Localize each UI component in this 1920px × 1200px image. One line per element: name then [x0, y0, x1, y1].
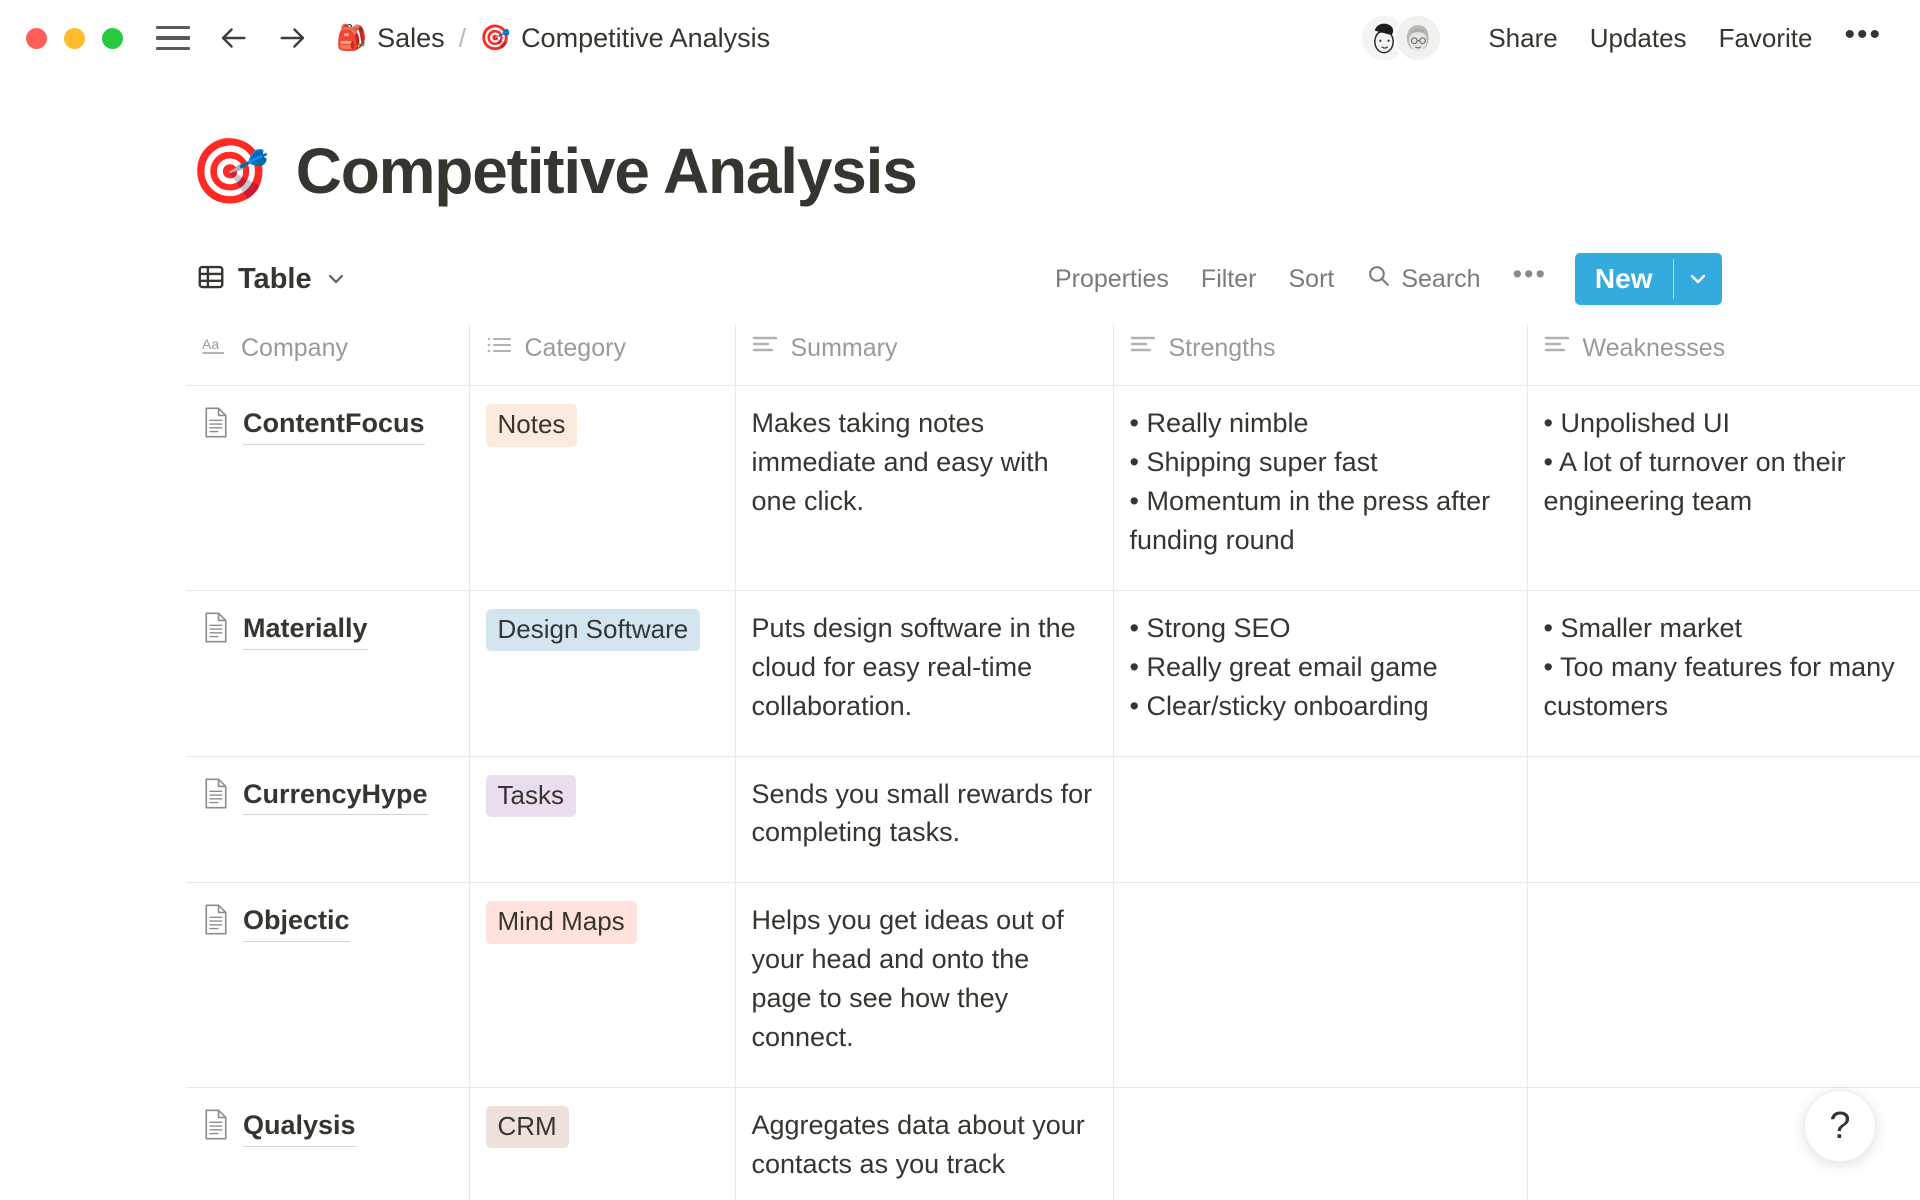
column-header-label: Summary [791, 334, 898, 363]
filter-label: Filter [1201, 265, 1257, 294]
page-icon [202, 612, 230, 654]
toolbar-more-icon[interactable]: ••• [1497, 268, 1563, 292]
text-lines-icon [1130, 334, 1156, 363]
column-header-summary[interactable]: Summary [735, 324, 1113, 386]
cell-category[interactable]: Mind Maps [469, 883, 735, 1088]
cell-summary[interactable]: Makes taking notes immediate and easy wi… [735, 386, 1113, 591]
svg-text:Aa: Aa [202, 336, 219, 352]
updates-button[interactable]: Updates [1574, 17, 1703, 60]
page-title: 🎯 Competitive Analysis [0, 76, 1920, 206]
cell-category[interactable]: Notes [469, 386, 735, 591]
cell-strengths[interactable] [1113, 883, 1527, 1088]
database-table: Aa Company [0, 324, 1920, 1200]
search-icon [1366, 263, 1391, 295]
minimize-window-button[interactable] [64, 28, 85, 49]
column-header-label: Strengths [1169, 334, 1276, 363]
titlebar-actions: Share Updates Favorite ••• [1360, 14, 1896, 62]
filter-button[interactable]: Filter [1185, 259, 1273, 300]
new-button[interactable]: New [1575, 253, 1722, 305]
breadcrumb-label-competitive-analysis: Competitive Analysis [521, 23, 770, 54]
new-button-chevron-down-icon[interactable] [1674, 253, 1722, 305]
select-list-icon [486, 334, 512, 363]
arrow-right-icon[interactable] [276, 21, 310, 55]
table-row[interactable]: ObjecticMind MapsHelps you get ideas out… [186, 883, 1920, 1088]
view-tab-label: Table [238, 263, 312, 296]
toolbar-actions: Properties Filter Sort Search ••• [1039, 253, 1722, 305]
table-row[interactable]: MateriallyDesign SoftwarePuts design sof… [186, 590, 1920, 756]
cell-summary[interactable]: Sends you small rewards for completing t… [735, 756, 1113, 883]
column-header-label: Category [525, 334, 626, 363]
company-name-link[interactable]: Qualysis [243, 1106, 356, 1147]
page-icon [202, 1109, 230, 1151]
dart-icon[interactable]: 🎯 [190, 139, 270, 203]
column-header-company[interactable]: Aa Company [186, 324, 469, 386]
text-lines-icon [752, 334, 778, 363]
notion-window: 🎒 Sales / 🎯 Competitive Analysis [0, 0, 1920, 1200]
category-tag[interactable]: Mind Maps [486, 901, 637, 944]
page-icon [202, 407, 230, 449]
cell-strengths[interactable]: • Strong SEO • Really great email game •… [1113, 590, 1527, 756]
text-type-icon: Aa [202, 334, 228, 363]
view-tab-table[interactable]: Table [196, 262, 348, 297]
column-header-category[interactable]: Category [469, 324, 735, 386]
cell-company[interactable]: Materially [186, 590, 469, 756]
category-tag[interactable]: Notes [486, 404, 578, 447]
column-header-strengths[interactable]: Strengths [1113, 324, 1527, 386]
favorite-button[interactable]: Favorite [1703, 17, 1829, 60]
breadcrumb-item-sales[interactable]: 🎒 Sales [336, 23, 445, 54]
company-name-link[interactable]: CurrencyHype [243, 775, 428, 816]
page-icon [202, 904, 230, 946]
cell-company[interactable]: Qualysis [186, 1087, 469, 1200]
cell-weaknesses[interactable] [1527, 756, 1920, 883]
arrow-left-icon[interactable] [216, 21, 250, 55]
category-tag[interactable]: CRM [486, 1106, 569, 1149]
window-titlebar: 🎒 Sales / 🎯 Competitive Analysis [0, 0, 1920, 76]
hamburger-menu-icon[interactable] [156, 24, 190, 52]
question-mark-icon: ? [1829, 1105, 1850, 1148]
table-icon [196, 262, 226, 297]
database-toolbar: Table Properties Filter Sort [0, 252, 1920, 306]
cell-summary[interactable]: Helps you get ideas out of your head and… [735, 883, 1113, 1088]
table-body: ContentFocusNotesMakes taking notes imme… [186, 386, 1920, 1200]
zoom-window-button[interactable] [102, 28, 123, 49]
page-content: 🎯 Competitive Analysis Table [0, 76, 1920, 1200]
cell-category[interactable]: CRM [469, 1087, 735, 1200]
breadcrumb-item-competitive-analysis[interactable]: 🎯 Competitive Analysis [480, 23, 770, 54]
column-header-label: Company [241, 334, 348, 363]
table-header-row: Aa Company [186, 324, 1920, 386]
page-icon [202, 778, 230, 820]
cell-weaknesses[interactable] [1527, 883, 1920, 1088]
share-button[interactable]: Share [1472, 17, 1573, 60]
cell-category[interactable]: Tasks [469, 756, 735, 883]
breadcrumb-label-sales: Sales [377, 23, 445, 54]
sort-button[interactable]: Sort [1272, 259, 1350, 300]
page-title-text[interactable]: Competitive Analysis [296, 136, 917, 206]
cell-summary[interactable]: Puts design software in the cloud for ea… [735, 590, 1113, 756]
company-name-link[interactable]: ContentFocus [243, 404, 425, 445]
help-button[interactable]: ? [1804, 1090, 1876, 1162]
more-options-icon[interactable]: ••• [1828, 23, 1896, 54]
backpack-icon: 🎒 [336, 26, 367, 51]
close-window-button[interactable] [26, 28, 47, 49]
collaborator-avatars[interactable] [1360, 14, 1442, 62]
column-header-weaknesses[interactable]: Weaknesses [1527, 324, 1920, 386]
cell-company[interactable]: ContentFocus [186, 386, 469, 591]
cell-company[interactable]: CurrencyHype [186, 756, 469, 883]
cell-company[interactable]: Objectic [186, 883, 469, 1088]
properties-label: Properties [1055, 265, 1169, 294]
category-tag[interactable]: Design Software [486, 609, 701, 652]
breadcrumb-separator: / [459, 23, 466, 54]
dart-icon: 🎯 [480, 26, 511, 51]
avatar[interactable] [1394, 14, 1442, 62]
properties-button[interactable]: Properties [1039, 259, 1185, 300]
window-controls [26, 28, 123, 49]
cell-category[interactable]: Design Software [469, 590, 735, 756]
cell-weaknesses[interactable]: • Unpolished UI • A lot of turnover on t… [1527, 386, 1920, 591]
sort-label: Sort [1288, 265, 1334, 294]
column-header-label: Weaknesses [1583, 334, 1726, 363]
cell-strengths[interactable]: • Really nimble • Shipping super fast • … [1113, 386, 1527, 591]
search-label: Search [1401, 265, 1480, 294]
table-row[interactable]: QualysisCRMAggregates data about your co… [186, 1087, 1920, 1200]
cell-strengths[interactable] [1113, 756, 1527, 883]
cell-summary[interactable]: Aggregates data about your contacts as y… [735, 1087, 1113, 1200]
breadcrumb: 🎒 Sales / 🎯 Competitive Analysis [336, 23, 770, 54]
table-row[interactable]: ContentFocusNotesMakes taking notes imme… [186, 386, 1920, 591]
text-lines-icon [1544, 334, 1570, 363]
company-name-link[interactable]: Materially [243, 609, 368, 650]
search-button[interactable]: Search [1350, 257, 1496, 301]
company-name-link[interactable]: Objectic [243, 901, 350, 942]
category-tag[interactable]: Tasks [486, 775, 576, 818]
cell-strengths[interactable] [1113, 1087, 1527, 1200]
chevron-down-icon[interactable] [324, 267, 348, 291]
cell-weaknesses[interactable]: • Smaller market • Too many features for… [1527, 590, 1920, 756]
new-button-label[interactable]: New [1575, 253, 1673, 305]
table-row[interactable]: CurrencyHypeTasksSends you small rewards… [186, 756, 1920, 883]
